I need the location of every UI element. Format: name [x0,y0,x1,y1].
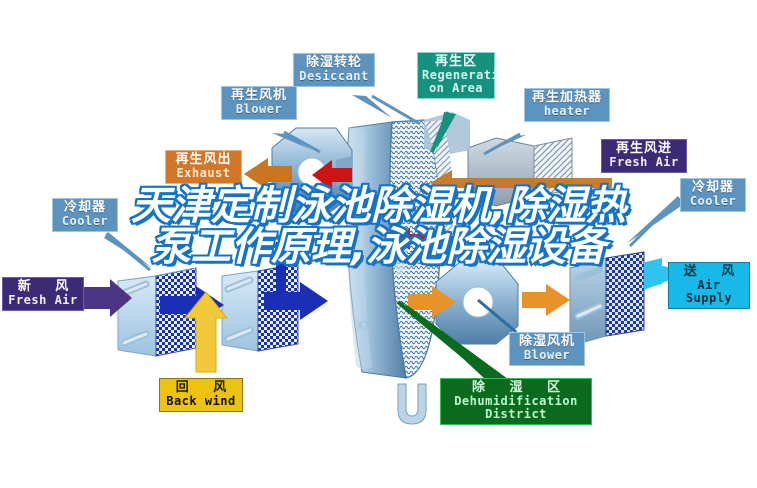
label-fresh-air-cn: 新 风 [7,280,79,294]
label-regeneration-area-en2: on Area [422,82,490,95]
label-back-wind: 回 风 Back wind [159,378,243,412]
label-exhaust: 再生风出 Exhaust [165,150,242,184]
diagram-canvas: XT [0,0,757,488]
desiccant-rotor: XT [346,120,440,424]
label-dehumidification-blower-en: Blower [514,349,580,362]
arrow-out-dehum-blower [522,284,570,316]
label-back-wind-en: Back wind [164,395,238,408]
label-regeneration-air-in: 再生风进 Fresh Air [601,139,687,173]
label-cooler-right-cn: 冷却器 [685,181,741,195]
label-cooler-left: 冷却器 Cooler [52,198,118,232]
label-air-supply: 送 风 Air Supply [668,262,750,309]
label-regeneration-air-in-cn: 再生风进 [606,142,682,156]
label-desiccant-rotor-en: Desiccant [298,70,370,83]
label-regeneration-air-in-en: Fresh Air [606,156,682,169]
label-regeneration-blower: 再生风机 Blower [221,86,297,120]
label-cooler-right: 冷却器 Cooler [680,178,746,212]
label-dehumidification-district-en2: District [445,408,587,421]
label-air-supply-en: Air Supply [673,279,745,305]
label-exhaust-en: Exhaust [170,167,237,180]
label-cooler-left-en: Cooler [57,215,113,228]
label-cooler-right-en: Cooler [685,195,741,208]
label-fresh-air-en: Fresh Air [7,294,79,307]
label-fresh-air: 新 风 Fresh Air [2,277,84,311]
label-regeneration-area: 再生区 Regenerati on Area [417,52,495,99]
label-back-wind-cn: 回 风 [164,381,238,395]
label-regeneration-blower-cn: 再生风机 [226,89,292,103]
regeneration-heater [468,138,572,206]
dehumidifier-schematic: XT [0,0,757,488]
label-desiccant-rotor: 除湿转轮 Desiccant [293,53,375,87]
label-cooler-left-cn: 冷却器 [57,201,113,215]
label-regeneration-heater-en: heater [529,105,605,118]
label-dehumidification-district: 除 湿 区 Dehumidification District [440,378,592,425]
svg-text:XT: XT [356,319,370,333]
label-air-supply-cn: 送 风 [673,265,745,279]
label-exhaust-cn: 再生风出 [170,153,237,167]
label-dehumidification-blower: 除湿风机 Blower [509,332,585,366]
label-regeneration-area-cn: 再生区 [422,55,490,69]
label-dehumidification-district-cn: 除 湿 区 [445,381,587,395]
label-regeneration-heater: 再生加热器 heater [524,88,610,122]
label-dehumidification-blower-cn: 除湿风机 [514,335,580,349]
label-desiccant-rotor-cn: 除湿转轮 [298,56,370,70]
label-regeneration-blower-en: Blower [226,103,292,116]
label-regeneration-heater-cn: 再生加热器 [529,91,605,105]
